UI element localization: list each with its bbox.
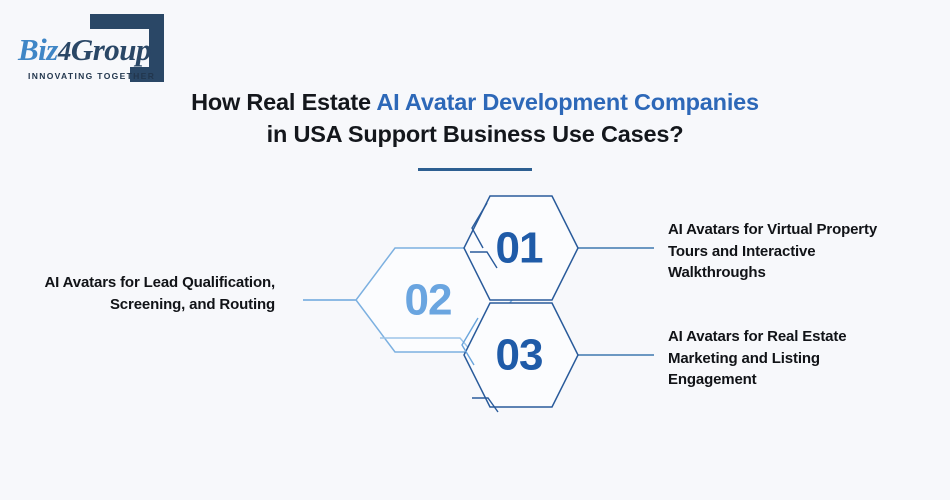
hexagon-number-02: 02: [405, 276, 452, 325]
item-label-02: AI Avatars for Lead Qualification, Scree…: [40, 272, 275, 315]
item-label-01: AI Avatars for Virtual Property Tours an…: [668, 219, 908, 284]
hexagon-number-01: 01: [496, 224, 543, 273]
item-label-03: AI Avatars for Real Estate Marketing and…: [668, 326, 908, 391]
hexagon-number-03: 03: [496, 331, 543, 380]
